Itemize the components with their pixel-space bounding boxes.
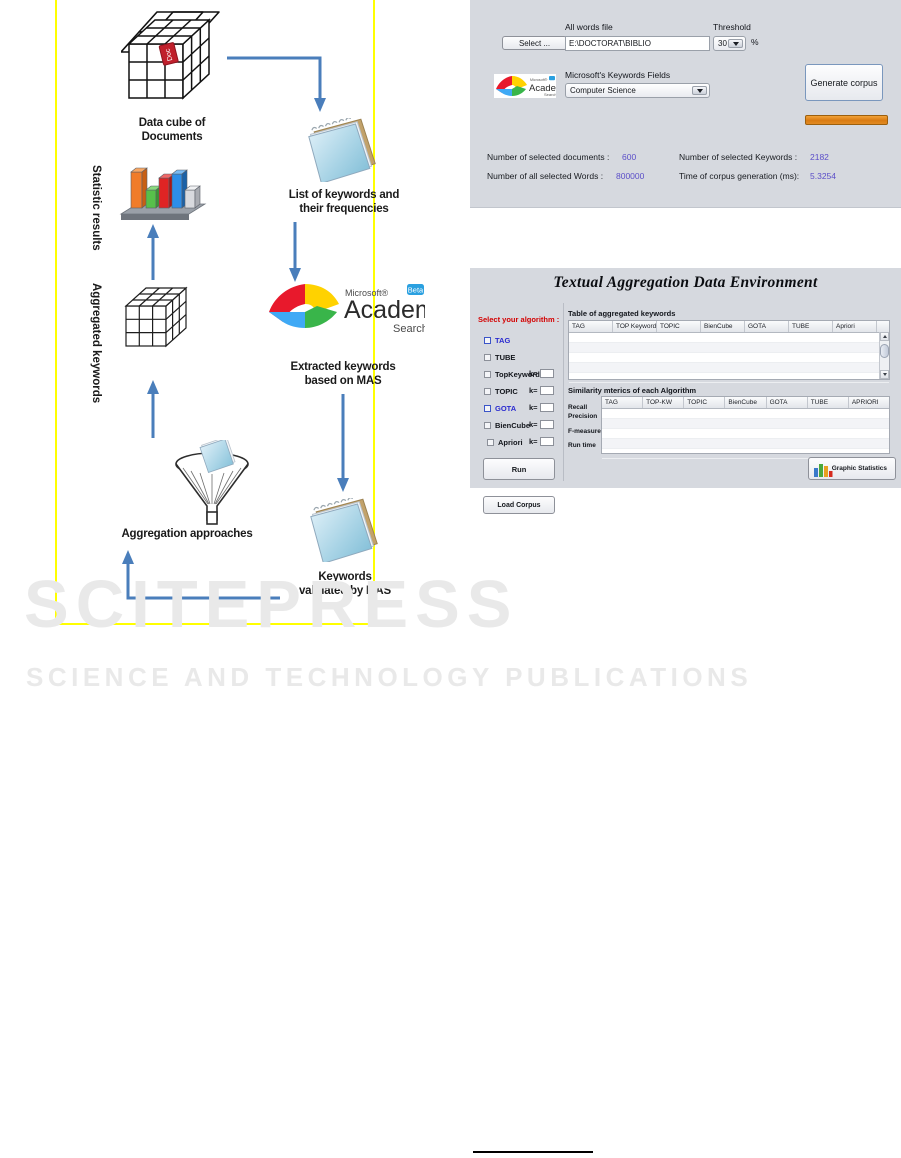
table-row[interactable]: [569, 353, 889, 363]
label-keyword-list: List of keywords and their frequencies: [269, 188, 419, 217]
all-words-file-label: All words file: [565, 22, 613, 32]
algo-checkbox-row-apriori[interactable]: Apriori: [487, 437, 523, 448]
algo-label: GOTA: [495, 404, 516, 413]
stat-value-selected-documents: 600: [622, 152, 636, 162]
table-body: [569, 333, 889, 383]
k-label: k=: [529, 369, 538, 378]
metrics-row-fmeasure[interactable]: [602, 429, 889, 439]
arrow-mas-to-validated: [333, 394, 353, 494]
column-header[interactable]: TUBE: [789, 321, 833, 332]
threshold-percent-sign: %: [751, 37, 759, 47]
column-header[interactable]: TOPIC: [684, 397, 725, 408]
algorithm-selection-panel: Select your algorithm : TAG TUBE TopKeyw…: [477, 303, 564, 481]
mas-keywords-fields-select[interactable]: Computer Science: [565, 83, 710, 98]
tade-title: Textual Aggregation Data Environment: [470, 274, 901, 292]
algorithm-selection-heading: Select your algorithm :: [478, 315, 559, 324]
algo-checkbox-row-gota[interactable]: GOTA: [484, 403, 516, 414]
mas-keywords-fields-value: Computer Science: [570, 86, 636, 95]
k-input-topic[interactable]: [540, 386, 554, 395]
chevron-down-icon[interactable]: [728, 39, 743, 48]
stat-value-generation-time: 5.3254: [810, 171, 836, 181]
footer-rule: [473, 1151, 593, 1153]
graphic-statistics-label: Graphic Statistics: [832, 465, 887, 472]
threshold-value: 30: [718, 39, 727, 48]
run-button[interactable]: Run: [483, 458, 555, 480]
k-label: k=: [529, 386, 538, 395]
all-words-file-input[interactable]: E:\DOCTORAT\BIBLIO: [565, 36, 710, 51]
label-statistic-results: Statistic results: [90, 165, 102, 265]
metrics-row-recall[interactable]: [602, 409, 889, 419]
generate-corpus-button[interactable]: Generate corpus: [805, 64, 883, 101]
column-header[interactable]: TAG: [569, 321, 613, 332]
metrics-header-row: TAG TOP-KW TOPIC BienCube GOTA TUBE APRI…: [602, 397, 889, 409]
k-input-apriori[interactable]: [540, 437, 554, 446]
arrow-cube-to-statistics: [143, 222, 163, 282]
label-validated-keywords: Keywords validated by MAS: [265, 570, 425, 599]
chevron-down-icon[interactable]: [692, 86, 707, 95]
algo-label: TAG: [495, 336, 510, 345]
textual-aggregation-data-environment-panel: Textual Aggregation Data Environment Sel…: [470, 268, 901, 488]
algo-checkbox-row-topic[interactable]: TOPIC: [484, 386, 518, 397]
algo-checkbox-row-tag[interactable]: TAG: [484, 335, 510, 346]
checkbox-icon[interactable]: [484, 422, 491, 429]
metric-row-label-recall: Recall: [568, 404, 587, 411]
bar-chart-icon: [813, 462, 833, 477]
funnel-aggregation-icon: [167, 440, 257, 526]
graphic-statistics-button[interactable]: Graphic Statistics: [808, 457, 896, 480]
arrow-aggregation-to-cube: [143, 378, 163, 440]
watermark-sub-text: SCIENCE AND TECHNOLOGY PUBLICATIONS: [26, 662, 752, 693]
metric-row-label-fmeasure: F-measure: [568, 428, 601, 435]
checkbox-icon[interactable]: [487, 439, 494, 446]
metrics-row-runtime[interactable]: [602, 439, 889, 449]
column-header[interactable]: BienCube: [725, 397, 766, 408]
metrics-body: [602, 409, 889, 459]
table-row[interactable]: [569, 373, 889, 383]
similarity-metrics-table[interactable]: TAG TOP-KW TOPIC BienCube GOTA TUBE APRI…: [601, 396, 890, 454]
svg-text:Search: Search: [544, 92, 556, 97]
checkbox-icon[interactable]: [484, 337, 491, 344]
scroll-down-icon[interactable]: [880, 370, 889, 379]
process-diagram-figure: Doc Data cube of Documents: [55, 0, 375, 625]
k-input-biencube[interactable]: [540, 420, 554, 429]
stat-label-all-selected-words: Number of all selected Words :: [487, 171, 603, 181]
scroll-up-icon[interactable]: [880, 332, 889, 341]
algo-checkbox-row-biencube[interactable]: BienCube: [484, 420, 530, 431]
microsoft-academic-search-logo-small: Microsoft® Academic Search: [494, 74, 556, 98]
notepad-validated-keywords-icon: [307, 498, 383, 562]
column-header[interactable]: TUBE: [808, 397, 849, 408]
column-header-spacer: [877, 321, 889, 332]
stat-label-selected-keywords: Number of selected Keywords :: [679, 152, 797, 162]
metrics-row-precision[interactable]: [602, 419, 889, 429]
data-cube-icon: Doc: [121, 8, 221, 116]
algo-label: BienCube: [495, 421, 530, 430]
column-header[interactable]: TOPIC: [657, 321, 701, 332]
k-label: k=: [529, 437, 538, 446]
column-header[interactable]: GOTA: [767, 397, 808, 408]
arrow-cube-to-keywords: [225, 50, 335, 120]
table-row[interactable]: [569, 333, 889, 343]
table-vertical-scrollbar[interactable]: [879, 332, 889, 379]
table-header-row: TAG TOP Keyword TOPIC BienCube GOTA TUBE…: [569, 321, 889, 333]
notepad-keyword-list-icon: [305, 118, 381, 182]
aggregated-keywords-caption: Table of aggregated keywords: [568, 309, 675, 318]
checkbox-icon[interactable]: [484, 354, 491, 361]
stat-label-selected-documents: Number of selected documents :: [487, 152, 609, 162]
algo-label: TOPIC: [495, 387, 518, 396]
column-header[interactable]: BienCube: [701, 321, 745, 332]
statistics-bar-chart-icon: [117, 160, 207, 228]
scrollbar-thumb[interactable]: [880, 344, 889, 358]
aggregated-keywords-table[interactable]: TAG TOP Keyword TOPIC BienCube GOTA TUBE…: [568, 320, 890, 380]
stat-value-all-selected-words: 800000: [616, 171, 644, 181]
label-data-cube: Data cube of Documents: [107, 116, 237, 145]
k-input-topkeyword[interactable]: [540, 369, 554, 378]
k-label: k=: [529, 403, 538, 412]
stat-value-selected-keywords: 2182: [810, 152, 829, 162]
checkbox-icon[interactable]: [484, 405, 491, 412]
arrow-keywords-to-mas: [285, 222, 305, 284]
metric-row-label-precision: Precision: [568, 413, 597, 420]
select-file-button[interactable]: Select ...: [502, 36, 567, 50]
column-header[interactable]: TOP-KW: [643, 397, 684, 408]
metric-row-label-runtime: Run time: [568, 442, 596, 449]
k-label: k=: [529, 420, 538, 429]
threshold-label: Threshold: [713, 22, 751, 32]
aggregated-cube-icon: [120, 278, 194, 358]
label-aggregation-approaches: Aggregation approaches: [77, 527, 297, 541]
checkbox-icon[interactable]: [484, 371, 491, 378]
load-corpus-button[interactable]: Load Corpus: [483, 496, 555, 514]
stat-label-generation-time: Time of corpus generation (ms):: [679, 171, 799, 181]
label-extracted-keywords: Extracted keywords based on MAS: [263, 360, 423, 389]
checkbox-icon[interactable]: [484, 388, 491, 395]
svg-text:Academic: Academic: [344, 296, 425, 324]
corpus-progress-bar: [805, 115, 888, 125]
corpus-generation-panel: Select ... All words file E:\DOCTORAT\BI…: [470, 0, 901, 208]
table-row[interactable]: [569, 343, 889, 353]
column-header[interactable]: GOTA: [745, 321, 789, 332]
microsoft-academic-search-logo: Microsoft® Academic Search Beta: [265, 282, 425, 336]
mas-keywords-fields-label: Microsoft's Keywords Fields: [565, 70, 670, 80]
column-header[interactable]: Apriori: [833, 321, 877, 332]
label-aggregated-keywords: Aggregated keywords: [90, 283, 102, 413]
threshold-select[interactable]: 30: [713, 36, 746, 51]
k-input-gota[interactable]: [540, 403, 554, 412]
svg-text:Beta: Beta: [408, 286, 424, 295]
svg-text:Search: Search: [393, 323, 425, 335]
table-row[interactable]: [569, 363, 889, 373]
algo-label: TUBE: [495, 353, 515, 362]
column-header[interactable]: TOP Keyword: [613, 321, 657, 332]
column-header[interactable]: APRIORI: [849, 397, 889, 408]
algo-checkbox-row-tube[interactable]: TUBE: [484, 352, 515, 363]
svg-text:Microsoft®: Microsoft®: [530, 78, 548, 82]
arrow-validated-to-aggregation: [112, 548, 282, 606]
algo-label: Apriori: [498, 438, 523, 447]
column-header[interactable]: TAG: [602, 397, 643, 408]
similarity-metrics-caption: Similarity mterics of each Algorithm: [568, 386, 696, 395]
